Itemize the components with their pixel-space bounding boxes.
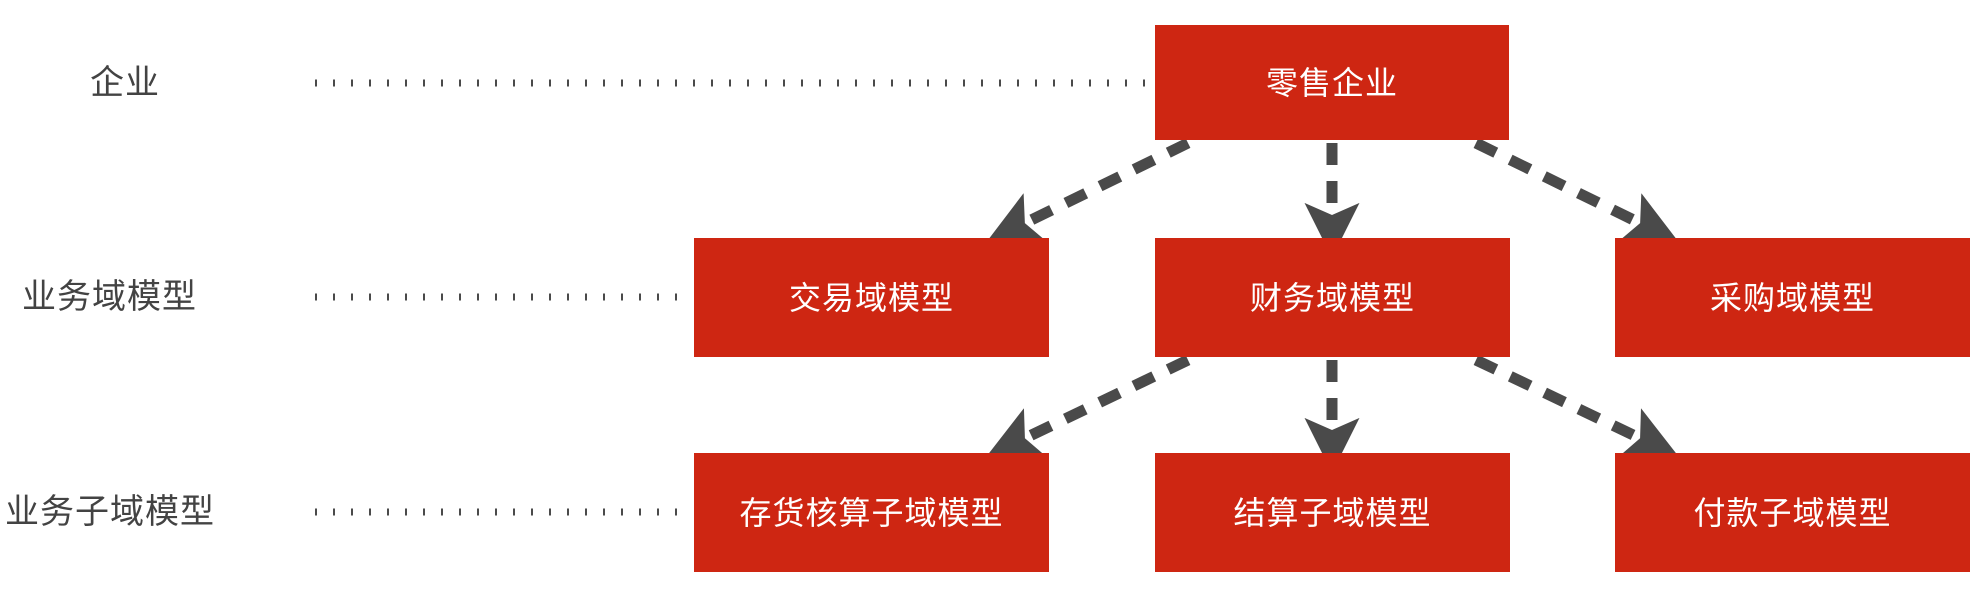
row-label-business-subdomain-model: 业务子域模型: [5, 495, 215, 529]
node-finance-domain-model[interactable]: 财务域模型: [1155, 238, 1510, 357]
node-payment-subdomain-model[interactable]: 付款子域模型: [1615, 453, 1970, 572]
node-settlement-subdomain-model[interactable]: 结算子域模型: [1155, 453, 1510, 572]
arrow-finance-domain-model-to-inventory-accounting-subdomain-model: [1015, 360, 1188, 443]
node-procurement-domain-model[interactable]: 采购域模型: [1615, 238, 1970, 357]
node-inventory-accounting-subdomain-model-label: 存货核算子域模型: [739, 497, 1003, 529]
node-finance-domain-model-label: 财务域模型: [1250, 282, 1415, 314]
node-retail-enterprise-label: 零售企业: [1266, 67, 1398, 99]
row-label-enterprise: 企业: [90, 66, 160, 100]
node-inventory-accounting-subdomain-model[interactable]: 存货核算子域模型: [694, 453, 1049, 572]
node-payment-subdomain-model-label: 付款子域模型: [1693, 497, 1891, 529]
node-settlement-subdomain-model-label: 结算子域模型: [1233, 497, 1431, 529]
domain-model-hierarchy-diagram: 企业 业务域模型 业务子域模型 零售企业 交易域模型 财务域模型 采购域模型 存…: [0, 0, 1976, 598]
arrow-retail-enterprise-to-transaction-domain-model: [1015, 143, 1188, 228]
node-retail-enterprise[interactable]: 零售企业: [1155, 25, 1509, 140]
node-procurement-domain-model-label: 采购域模型: [1710, 282, 1875, 314]
arrow-retail-enterprise-to-procurement-domain-model: [1476, 143, 1650, 228]
node-transaction-domain-model[interactable]: 交易域模型: [694, 238, 1049, 357]
node-transaction-domain-model-label: 交易域模型: [789, 282, 954, 314]
row-label-business-domain-model: 业务域模型: [22, 280, 197, 314]
arrow-finance-domain-model-to-payment-subdomain-model: [1476, 360, 1650, 443]
